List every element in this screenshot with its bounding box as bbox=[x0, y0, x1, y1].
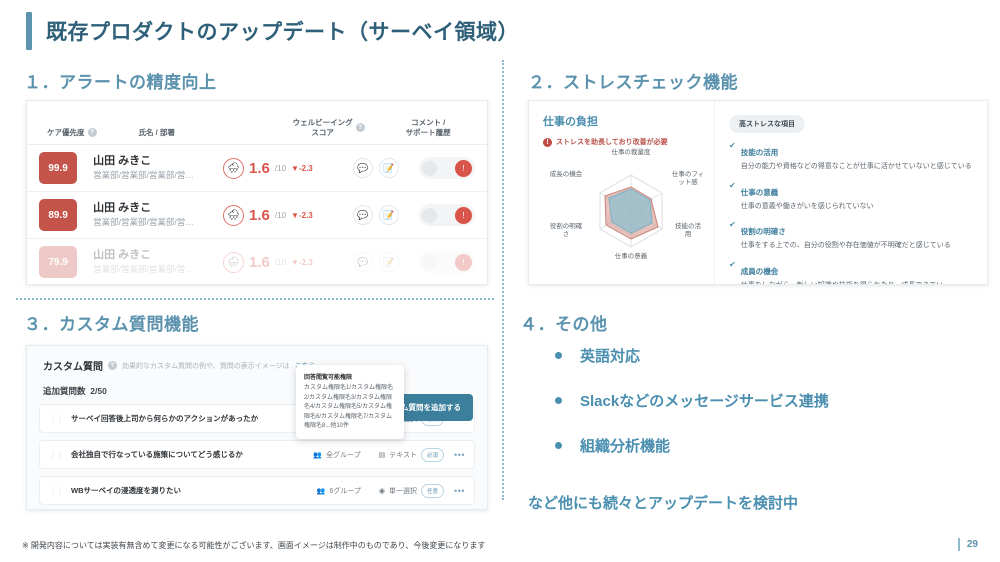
comment-icon[interactable]: 💬 bbox=[353, 205, 373, 225]
radar-label-2: 技能の活用 bbox=[673, 223, 703, 239]
check-icon: ✔ bbox=[729, 142, 736, 173]
custom-question-screenshot: カスタム質問 ? 効果的なカスタム質問の例や、質問の表示イメージは こちら 追加… bbox=[26, 345, 488, 510]
list-item: Slackなどのメッセージサービス連携 bbox=[555, 390, 829, 411]
score-value: 1.6 bbox=[249, 254, 270, 271]
employee-name: 山田 みきこ bbox=[93, 202, 223, 216]
section-heading-3: ３．カスタム質問機能 bbox=[24, 310, 199, 335]
answer-type: テキスト bbox=[389, 450, 417, 460]
row-actions: 💬 📝 ! bbox=[353, 251, 475, 273]
group-icon: 👥 bbox=[317, 487, 326, 495]
score-cell: 🌧 1.6 /10 ▼-2.3 bbox=[223, 252, 353, 273]
help-icon[interactable]: ? bbox=[88, 128, 97, 137]
item-desc: 自分の能力や資格などの得意なことが仕事に活かせていないと感じている bbox=[741, 162, 972, 173]
score-denominator: /10 bbox=[275, 258, 286, 267]
support-history-icon bbox=[422, 255, 437, 270]
item-body: 技能の活用 自分の能力や資格などの得意なことが仕事に活かせていないと感じている bbox=[741, 142, 972, 173]
list-item: 組織分析機能 bbox=[555, 435, 829, 456]
status-badge: 高ストレスな項目 bbox=[729, 115, 805, 133]
radar-chart: 仕事の裁量度 仕事のフィット感 技能の活用 仕事の意義 役割の明確さ 成長の機会 bbox=[543, 149, 719, 267]
page-number: 29 bbox=[967, 539, 978, 550]
employee-name: 山田 みきこ bbox=[93, 155, 223, 169]
item-desc: 仕事の意義や働きがいを感じられていない bbox=[741, 202, 874, 213]
employee-dept: 営業部/営業部/営業部/営… bbox=[93, 170, 223, 181]
check-icon: ✔ bbox=[729, 182, 736, 213]
list-item: 英語対応 bbox=[555, 345, 829, 366]
tooltip: 回答閲覧可能権限 カスタム権限名1/カスタム権限名2/カスタム権限名3/カスタム… bbox=[296, 365, 404, 439]
row-actions: 💬 📝 ! bbox=[353, 204, 475, 226]
column-header-score: ウェルビーイング スコア ? bbox=[274, 118, 383, 138]
more-icon[interactable]: ••• bbox=[454, 486, 465, 496]
custom-question-title: カスタム質問 bbox=[43, 358, 103, 373]
list-item: ✔ 技能の活用 自分の能力や資格などの得意なことが仕事に活かせていないと感じてい… bbox=[729, 142, 977, 173]
score-label-wrap: ウェルビーイング スコア bbox=[293, 118, 353, 138]
score-cell: 🌧 1.6 /10 ▼-2.3 bbox=[223, 205, 353, 226]
section-heading-4: ４．その他 bbox=[520, 310, 608, 335]
alert-icon: ! bbox=[455, 160, 472, 177]
stress-chart-pane: 仕事の負担 ! ストレスを助長しており改善が必要 bbox=[529, 101, 715, 284]
rain-cloud-icon: 🌧 bbox=[223, 158, 244, 179]
employee-dept: 営業部/営業部/営業部/営… bbox=[93, 264, 223, 275]
rain-cloud-icon: 🌧 bbox=[223, 205, 244, 226]
alert-icon: ! bbox=[455, 207, 472, 224]
item-body: 成員の機会 仕事をしながら、新しい知識や技術を得られたり、成長できてい bbox=[741, 261, 944, 286]
care-label: ケア優先度 bbox=[47, 128, 85, 138]
list-item: ✔ 役割の明確さ 仕事をする上での、自分の役割や存在価値が不明確だと感じている bbox=[729, 221, 977, 252]
alert-table-screenshot: ケア優先度 ? 氏名 / 部署 ウェルビーイング スコア ? コメント / サポ… bbox=[26, 100, 488, 285]
section-heading-1: １．アラートの精度向上 bbox=[24, 68, 217, 93]
help-icon[interactable]: ? bbox=[356, 123, 365, 132]
memo-icon[interactable]: 📝 bbox=[379, 158, 399, 178]
comment-label-wrap: コメント / サポート履歴 bbox=[406, 118, 451, 138]
comment-icon[interactable]: 💬 bbox=[353, 158, 373, 178]
list-item[interactable]: ⋮⋮ WBサーベイの浸透度を測りたい 👥 6グループ ◉ 単一選択 任意 ••• bbox=[39, 476, 475, 505]
title-accent-bar bbox=[26, 12, 32, 50]
drag-handle-icon[interactable]: ⋮⋮ bbox=[49, 486, 63, 495]
priority-badge: 89.9 bbox=[39, 199, 77, 231]
bullet-text: 英語対応 bbox=[580, 345, 640, 366]
item-title: 役割の明確さ bbox=[741, 227, 786, 236]
question-meta: 👥 6グループ ◉ 単一選択 任意 ••• bbox=[317, 484, 465, 498]
custom-question-subtitle: 効果的なカスタム質問の例や、質問の表示イメージは bbox=[122, 361, 290, 371]
priority-badge: 79.9 bbox=[39, 246, 77, 278]
score-denominator: /10 bbox=[275, 164, 286, 173]
question-text: WBサーベイの浸透度を測りたい bbox=[71, 485, 317, 496]
group-value: 全グループ bbox=[326, 450, 361, 460]
question-text: 会社独自で行なっている施策についてどう感じるか bbox=[71, 449, 313, 460]
priority-badge: 99.9 bbox=[39, 152, 77, 184]
bullet-icon bbox=[555, 442, 562, 449]
radar-label-3: 仕事の意義 bbox=[601, 253, 661, 261]
employee-dept: 営業部/営業部/営業部/営… bbox=[93, 217, 223, 228]
question-meta: 👥 全グループ ▤ テキスト 必須 ••• bbox=[313, 448, 465, 462]
support-history-icon bbox=[422, 161, 437, 176]
employee-name: 山田 みきこ bbox=[93, 249, 223, 263]
item-body: 役割の明確さ 仕事をする上での、自分の役割や存在価値が不明確だと感じている bbox=[741, 221, 951, 252]
group-value: 6グループ bbox=[329, 486, 360, 496]
tooltip-body: カスタム権限名1/カスタム権限名2/カスタム権限名3/カスタム権限名4/カスタム… bbox=[304, 384, 396, 432]
stress-warning-text: ストレスを助長しており改善が必要 bbox=[556, 137, 668, 147]
other-features-list: 英語対応 Slackなどのメッセージサービス連携 組織分析機能 bbox=[555, 345, 829, 480]
score-label-l1: ウェルビーイング bbox=[293, 118, 353, 127]
question-count-value: 2/50 bbox=[90, 386, 107, 396]
answer-type-icon: ▤ bbox=[379, 451, 386, 459]
table-row[interactable]: 79.9 山田 みきこ 営業部/営業部/営業部/営… 🌧 1.6 /10 ▼-2… bbox=[27, 239, 487, 285]
custom-question-header: カスタム質問 ? 効果的なカスタム質問の例や、質問の表示イメージは こちら bbox=[27, 346, 487, 373]
delta-value: -2.3 bbox=[299, 164, 313, 173]
comment-label-l2: サポート履歴 bbox=[406, 128, 451, 137]
drag-handle-icon[interactable]: ⋮⋮ bbox=[49, 450, 63, 459]
question-count-label: 追加質問数 bbox=[43, 386, 86, 396]
page-title: 既存プロダクトのアップデート（サーベイ領域） bbox=[26, 12, 519, 50]
radar-label-0: 仕事の裁量度 bbox=[599, 149, 663, 157]
item-desc: 仕事をしながら、新しい知識や技術を得られたり、成長できてい bbox=[741, 281, 944, 286]
item-title: 成員の機会 bbox=[741, 267, 779, 276]
bullet-text: 組織分析機能 bbox=[580, 435, 670, 456]
group-icon: 👥 bbox=[313, 451, 322, 459]
score-value: 1.6 bbox=[249, 207, 270, 224]
column-header-comment: コメント / サポート履歴 bbox=[383, 118, 473, 138]
memo-icon[interactable]: 📝 bbox=[379, 252, 399, 272]
employee-cell: 山田 みきこ 営業部/営業部/営業部/営… bbox=[93, 249, 223, 276]
item-title: 仕事の意義 bbox=[741, 188, 779, 197]
closing-text: など他にも続々とアップデートを検討中 bbox=[528, 492, 798, 513]
score-cell: 🌧 1.6 /10 ▼-2.3 bbox=[223, 158, 353, 179]
radar-chart-svg bbox=[543, 149, 719, 267]
check-icon: ✔ bbox=[729, 261, 736, 286]
score-denominator: /10 bbox=[275, 211, 286, 220]
employee-cell: 山田 みきこ 営業部/営業部/営業部/営… bbox=[93, 155, 223, 182]
memo-icon[interactable]: 📝 bbox=[379, 205, 399, 225]
list-item: ✔ 成員の機会 仕事をしながら、新しい知識や技術を得られたり、成長できてい bbox=[729, 261, 977, 286]
radar-label-5: 成長の機会 bbox=[549, 171, 583, 179]
support-pill[interactable]: ! bbox=[419, 204, 475, 226]
table-header-row: ケア優先度 ? 氏名 / 部署 ウェルビーイング スコア ? コメント / サポ… bbox=[27, 101, 487, 145]
title-text: 既存プロダクトのアップデート（サーベイ領域） bbox=[46, 16, 519, 46]
list-item[interactable]: ⋮⋮ 会社独自で行なっている施策についてどう感じるか 👥 全グループ ▤ テキス… bbox=[39, 440, 475, 469]
radar-label-1: 仕事のフィット感 bbox=[671, 171, 705, 187]
support-pill[interactable]: ! bbox=[419, 157, 475, 179]
score-label-l2: スコア bbox=[311, 128, 334, 137]
item-desc: 仕事をする上での、自分の役割や存在価値が不明確だと感じている bbox=[741, 241, 951, 252]
item-title: 技能の活用 bbox=[741, 148, 779, 157]
required-tag: 任意 bbox=[421, 484, 444, 498]
table-row[interactable]: 89.9 山田 みきこ 営業部/営業部/営業部/営… 🌧 1.6 /10 ▼-2… bbox=[27, 192, 487, 239]
delta-value: -2.3 bbox=[299, 258, 313, 267]
bullet-icon bbox=[555, 352, 562, 359]
warning-icon: ! bbox=[543, 138, 552, 147]
delta-value: -2.3 bbox=[299, 211, 313, 220]
support-pill[interactable]: ! bbox=[419, 251, 475, 273]
alert-icon: ! bbox=[455, 254, 472, 271]
help-icon[interactable]: ? bbox=[108, 361, 117, 370]
row-actions: 💬 📝 ! bbox=[353, 157, 475, 179]
rain-cloud-icon: 🌧 bbox=[223, 252, 244, 273]
list-item: ✔ 仕事の意義 仕事の意義や働きがいを感じられていない bbox=[729, 182, 977, 213]
column-header-care: ケア優先度 ? bbox=[41, 128, 139, 138]
score-value: 1.6 bbox=[249, 160, 270, 177]
comment-label-l1: コメント / bbox=[411, 118, 445, 127]
question-text: サーベイ回答後上司から何らかのアクションがあったか bbox=[71, 413, 313, 424]
stress-check-screenshot: 仕事の負担 ! ストレスを助長しており改善が必要 bbox=[528, 100, 988, 285]
stress-warning: ! ストレスを助長しており改善が必要 bbox=[543, 137, 704, 147]
stress-items-pane: 高ストレスな項目 ✔ 技能の活用 自分の能力や資格などの得意なことが仕事に活かせ… bbox=[715, 101, 987, 284]
radar-label-4: 役割の明確さ bbox=[549, 223, 583, 239]
stress-panel-title: 仕事の負担 bbox=[543, 113, 704, 129]
tooltip-title: 回答閲覧可能権限 bbox=[304, 372, 396, 381]
bullet-text: Slackなどのメッセージサービス連携 bbox=[580, 390, 829, 411]
slide-root: 既存プロダクトのアップデート（サーベイ領域） １．アラートの精度向上 ２．ストレ… bbox=[0, 0, 1000, 562]
column-header-name: 氏名 / 部署 bbox=[139, 128, 274, 138]
bullet-icon bbox=[555, 397, 562, 404]
support-history-icon bbox=[422, 208, 437, 223]
score-delta: ▼-2.3 bbox=[291, 164, 313, 173]
footer-note: ※ 開発内容については実装有無含めて変更になる可能性がございます、画面イメージは… bbox=[22, 540, 485, 551]
more-icon[interactable]: ••• bbox=[454, 450, 465, 460]
comment-icon[interactable]: 💬 bbox=[353, 252, 373, 272]
score-delta: ▼-2.3 bbox=[291, 211, 313, 220]
drag-handle-icon[interactable]: ⋮⋮ bbox=[49, 414, 63, 423]
horizontal-divider bbox=[16, 298, 494, 300]
answer-type: 単一選択 bbox=[389, 486, 417, 496]
score-delta: ▼-2.3 bbox=[291, 258, 313, 267]
page-indicator: 29 bbox=[958, 538, 978, 551]
page-accent-bar bbox=[958, 538, 960, 551]
vertical-divider bbox=[502, 60, 504, 500]
item-body: 仕事の意義 仕事の意義や働きがいを感じられていない bbox=[741, 182, 874, 213]
table-row[interactable]: 99.9 山田 みきこ 営業部/営業部/営業部/営… 🌧 1.6 /10 ▼-2… bbox=[27, 145, 487, 192]
check-icon: ✔ bbox=[729, 221, 736, 252]
answer-type-icon: ◉ bbox=[379, 487, 385, 495]
required-tag: 必須 bbox=[421, 448, 444, 462]
section-heading-2: ２．ストレスチェック機能 bbox=[528, 68, 738, 93]
employee-cell: 山田 みきこ 営業部/営業部/営業部/営… bbox=[93, 202, 223, 229]
